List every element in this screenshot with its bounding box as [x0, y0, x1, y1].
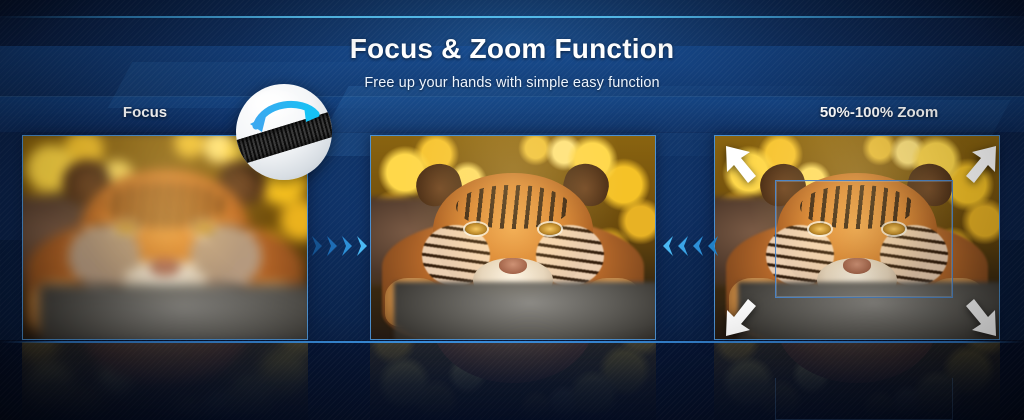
chevron-right-icon [325, 233, 340, 259]
chevron-right-icon [355, 233, 370, 259]
panel-focused-preview[interactable] [370, 135, 656, 340]
flow-chevrons-left [660, 233, 720, 259]
chevron-right-icon [340, 233, 355, 259]
chevron-left-icon [660, 233, 675, 259]
image-background-bokeh [370, 342, 656, 420]
tiger-image-focused [371, 136, 655, 339]
chevron-left-icon [675, 233, 690, 259]
reflection-focused-panel [370, 342, 656, 420]
image-background-bokeh [22, 342, 308, 420]
expand-arrow-bottom-left-icon [722, 284, 778, 340]
zoom-selection-rect-reflection [775, 378, 953, 420]
expand-arrow-top-right-icon [944, 142, 1000, 198]
floor-reflection-line [0, 341, 1024, 343]
expand-arrow-top-left-icon [722, 142, 778, 198]
rotate-arrow-icon [240, 88, 328, 138]
image-rim-light [371, 136, 655, 339]
chevron-left-icon [690, 233, 705, 259]
tiger-image-mirror [22, 342, 308, 420]
reflection-mirror [370, 342, 656, 420]
focus-zoom-banner: Focus & Zoom Function Free up your hands… [0, 0, 1024, 420]
flow-chevrons-right [310, 233, 370, 259]
tiger-head [777, 342, 937, 383]
expand-arrow-bottom-right-icon [944, 284, 1000, 340]
reflection-blurred-panel [22, 342, 308, 420]
chevron-left-icon [705, 233, 720, 259]
focus-ring-sphere[interactable] [236, 84, 332, 180]
tiger-head [433, 342, 593, 383]
tiger-image-mirror [370, 342, 656, 420]
accent-line-top [0, 16, 1024, 18]
page-subtitle: Free up your hands with simple easy func… [0, 75, 1024, 91]
chevron-right-icon [310, 233, 325, 259]
tiger-head [80, 342, 250, 387]
reflection-mirror [22, 342, 308, 420]
page-title: Focus & Zoom Function [0, 33, 1024, 65]
label-zoom-range: 50%-100% Zoom [734, 104, 1024, 121]
zoom-selection-rect[interactable] [775, 180, 953, 298]
